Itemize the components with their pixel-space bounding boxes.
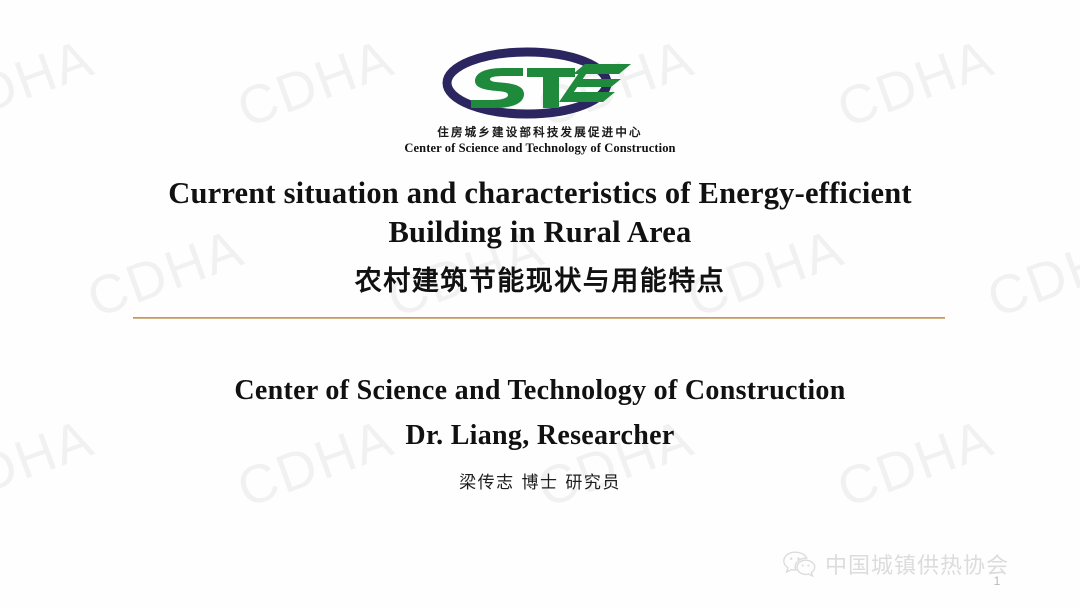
presenter-organization: Center of Science and Technology of Cons…	[60, 368, 1020, 413]
presenter-block: Center of Science and Technology of Cons…	[60, 368, 1020, 493]
logo-caption-chinese: 住房城乡建设部科技发展促进中心	[0, 124, 1080, 140]
footer-label: 中国城镇供热协会	[825, 548, 1009, 580]
title-line-1: Current situation and characteristics of…	[60, 174, 1020, 213]
presentation-slide: CDHACDHACDHACDHACDHACDHACDHACDHACDHACDHA…	[0, 0, 1080, 608]
presenter-name-chinese: 梁传志 博士 研究员	[60, 468, 1020, 493]
organization-logo: 住房城乡建设部科技发展促进中心 Center of Science and Te…	[0, 46, 1080, 156]
slide-content: 住房城乡建设部科技发展促进中心 Center of Science and Te…	[0, 0, 1080, 608]
page-number: 1	[988, 574, 1006, 588]
footer-attribution: 中国城镇供热协会	[782, 548, 1009, 580]
slide-title: Current situation and characteristics of…	[60, 174, 1020, 298]
title-line-2: Building in Rural Area	[60, 213, 1020, 252]
wechat-icon	[782, 549, 816, 579]
presenter-name: Dr. Liang, Researcher	[60, 413, 1020, 458]
title-divider-rule	[133, 317, 945, 319]
logo-caption-english: Center of Science and Technology of Cons…	[0, 141, 1080, 156]
stc-logo-icon	[435, 46, 645, 122]
title-line-chinese: 农村建筑节能现状与用能特点	[60, 259, 1020, 298]
